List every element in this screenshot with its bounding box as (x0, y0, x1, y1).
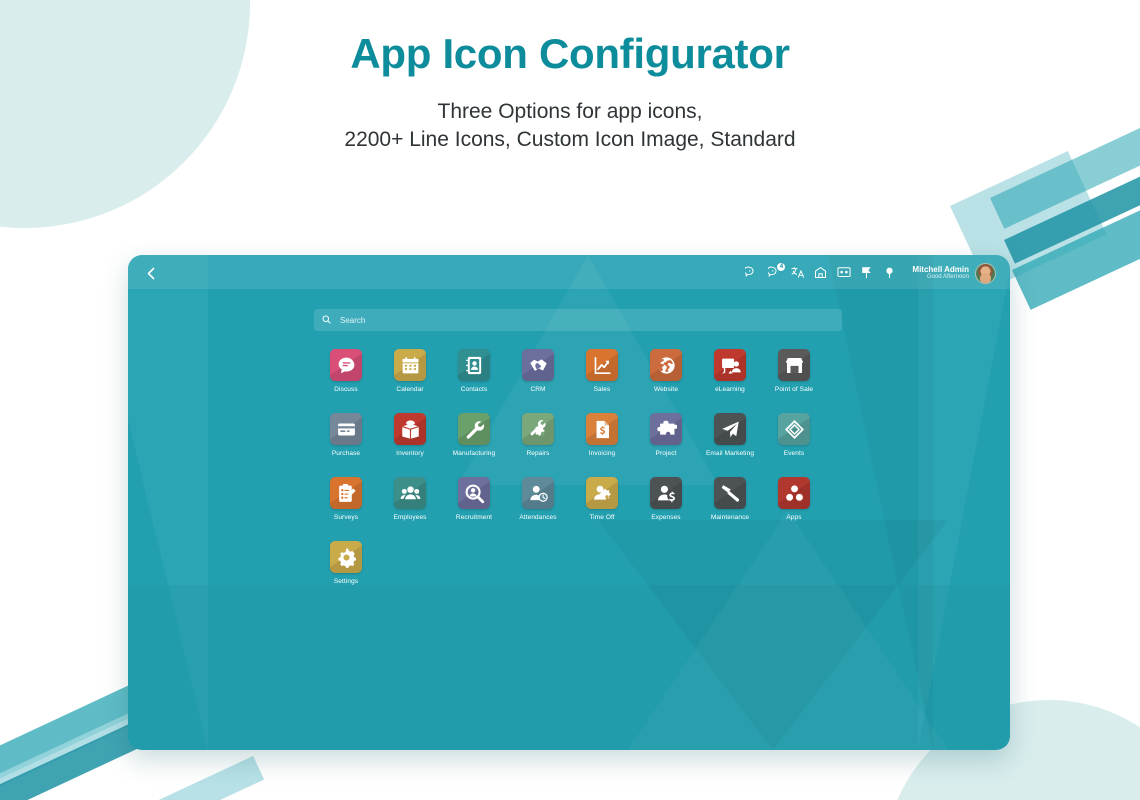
user-info: Mitchell Admin Good Afternoon (912, 266, 969, 281)
window-header: 4 (128, 255, 1010, 291)
employees-people-icon[interactable] (394, 477, 426, 509)
app-item-events[interactable]: Events (762, 413, 826, 457)
app-item-maintenance[interactable]: Maintenance (698, 477, 762, 521)
app-label: Inventory (396, 450, 424, 457)
debug-icon[interactable] (860, 266, 874, 280)
app-label: Attendances (519, 514, 556, 521)
apps-blocks-icon[interactable] (778, 477, 810, 509)
pos-store-icon[interactable] (778, 349, 810, 381)
app-item-invoicing[interactable]: Invoicing (570, 413, 634, 457)
app-label: Time Off (589, 514, 614, 521)
app-item-attendances[interactable]: Attendances (506, 477, 570, 521)
page-subtitle-line2: 2200+ Line Icons, Custom Icon Image, Sta… (344, 128, 795, 151)
app-label: Apps (786, 514, 801, 521)
app-label: Contacts (461, 386, 487, 393)
invoicing-document-icon[interactable] (586, 413, 618, 445)
app-label: eLearning (715, 386, 745, 393)
email-paperplane-icon[interactable] (714, 413, 746, 445)
app-label: Surveys (334, 514, 358, 521)
app-label: Expenses (651, 514, 680, 521)
surveys-clipboard-icon[interactable] (330, 477, 362, 509)
user-name: Mitchell Admin (912, 266, 969, 274)
user-greeting: Good Afternoon (927, 274, 969, 280)
app-label: Repairs (526, 450, 549, 457)
activities-icon[interactable]: 4 (768, 266, 782, 280)
page-subtitle-line1: Three Options for app icons, (438, 100, 703, 123)
translate-icon[interactable] (791, 266, 805, 280)
contacts-card-icon[interactable] (458, 349, 490, 381)
app-item-inventory[interactable]: Inventory (378, 413, 442, 457)
page-title: App Icon Configurator (0, 0, 1140, 78)
app-label: Discuss (334, 386, 357, 393)
app-window: 4 (128, 255, 1010, 750)
expenses-user-money-icon[interactable] (650, 477, 682, 509)
enterprise-icon[interactable] (814, 266, 828, 280)
search-bar[interactable] (314, 309, 842, 331)
app-label: Settings (334, 578, 358, 585)
website-globe-icon[interactable] (650, 349, 682, 381)
app-item-apps[interactable]: Apps (762, 477, 826, 521)
app-item-settings[interactable]: Settings (314, 541, 378, 585)
app-label: Purchase (332, 450, 360, 457)
app-item-discuss[interactable]: Discuss (314, 349, 378, 393)
app-item-surveys[interactable]: Surveys (314, 477, 378, 521)
maintenance-hammer-icon[interactable] (714, 477, 746, 509)
calendar-icon[interactable] (394, 349, 426, 381)
app-label: Point of Sale (775, 386, 813, 393)
ribbon-bar (90, 756, 264, 800)
search-icon (322, 311, 331, 329)
app-label: Employees (393, 514, 426, 521)
help-icon[interactable] (883, 266, 897, 280)
app-grid: DiscussCalendarContactsCRMSalesWebsiteeL… (314, 349, 874, 605)
app-item-crm[interactable]: CRM (506, 349, 570, 393)
app-label: Manufacturing (453, 450, 496, 457)
recruitment-search-icon[interactable] (458, 477, 490, 509)
decorative-ribbons-top-right (990, 140, 1140, 340)
app-label: Website (654, 386, 678, 393)
app-label: Recruitment (456, 514, 492, 521)
page-header: App Icon Configurator Three Options for … (0, 0, 1140, 154)
app-item-elearning[interactable]: eLearning (698, 349, 762, 393)
app-label: Sales (594, 386, 611, 393)
discuss-chat-icon[interactable] (330, 349, 362, 381)
app-item-point-of-sale[interactable]: Point of Sale (762, 349, 826, 393)
app-item-expenses[interactable]: Expenses (634, 477, 698, 521)
app-label: CRM (530, 386, 545, 393)
app-label: Email Marketing (706, 450, 754, 457)
app-item-recruitment[interactable]: Recruitment (442, 477, 506, 521)
app-item-employees[interactable]: Employees (378, 477, 442, 521)
inventory-box-icon[interactable] (394, 413, 426, 445)
app-item-calendar[interactable]: Calendar (378, 349, 442, 393)
app-label: Project (656, 450, 677, 457)
app-item-project[interactable]: Project (634, 413, 698, 457)
avatar[interactable] (975, 263, 996, 284)
app-item-repairs[interactable]: Repairs (506, 413, 570, 457)
search-input[interactable] (338, 315, 834, 326)
repairs-gear-wrench-icon[interactable] (522, 413, 554, 445)
settings-gear-icon[interactable] (330, 541, 362, 573)
chevron-left-icon[interactable] (128, 255, 174, 291)
project-puzzle-icon[interactable] (650, 413, 682, 445)
user-menu[interactable]: Mitchell Admin Good Afternoon (912, 263, 996, 284)
manufacturing-wrench-icon[interactable] (458, 413, 490, 445)
crm-handshake-icon[interactable] (522, 349, 554, 381)
timeoff-user-gear-icon[interactable] (586, 477, 618, 509)
app-item-purchase[interactable]: Purchase (314, 413, 378, 457)
apps-grid-icon[interactable] (837, 266, 851, 280)
purchase-card-icon[interactable] (330, 413, 362, 445)
app-label: Calendar (396, 386, 423, 393)
page-subtitle: Three Options for app icons, 2200+ Line … (0, 78, 1140, 154)
system-tray: 4 (745, 263, 1010, 284)
app-item-website[interactable]: Website (634, 349, 698, 393)
app-item-email-marketing[interactable]: Email Marketing (698, 413, 762, 457)
sales-chart-icon[interactable] (586, 349, 618, 381)
app-item-sales[interactable]: Sales (570, 349, 634, 393)
events-diamond-icon[interactable] (778, 413, 810, 445)
app-label: Events (784, 450, 804, 457)
app-item-time-off[interactable]: Time Off (570, 477, 634, 521)
app-label: Maintenance (711, 514, 749, 521)
messages-icon[interactable] (745, 266, 759, 280)
elearning-board-icon[interactable] (714, 349, 746, 381)
attendances-clock-icon[interactable] (522, 477, 554, 509)
app-label: Invoicing (589, 450, 616, 457)
app-item-manufacturing[interactable]: Manufacturing (442, 413, 506, 457)
activities-badge: 4 (777, 263, 785, 271)
app-item-contacts[interactable]: Contacts (442, 349, 506, 393)
